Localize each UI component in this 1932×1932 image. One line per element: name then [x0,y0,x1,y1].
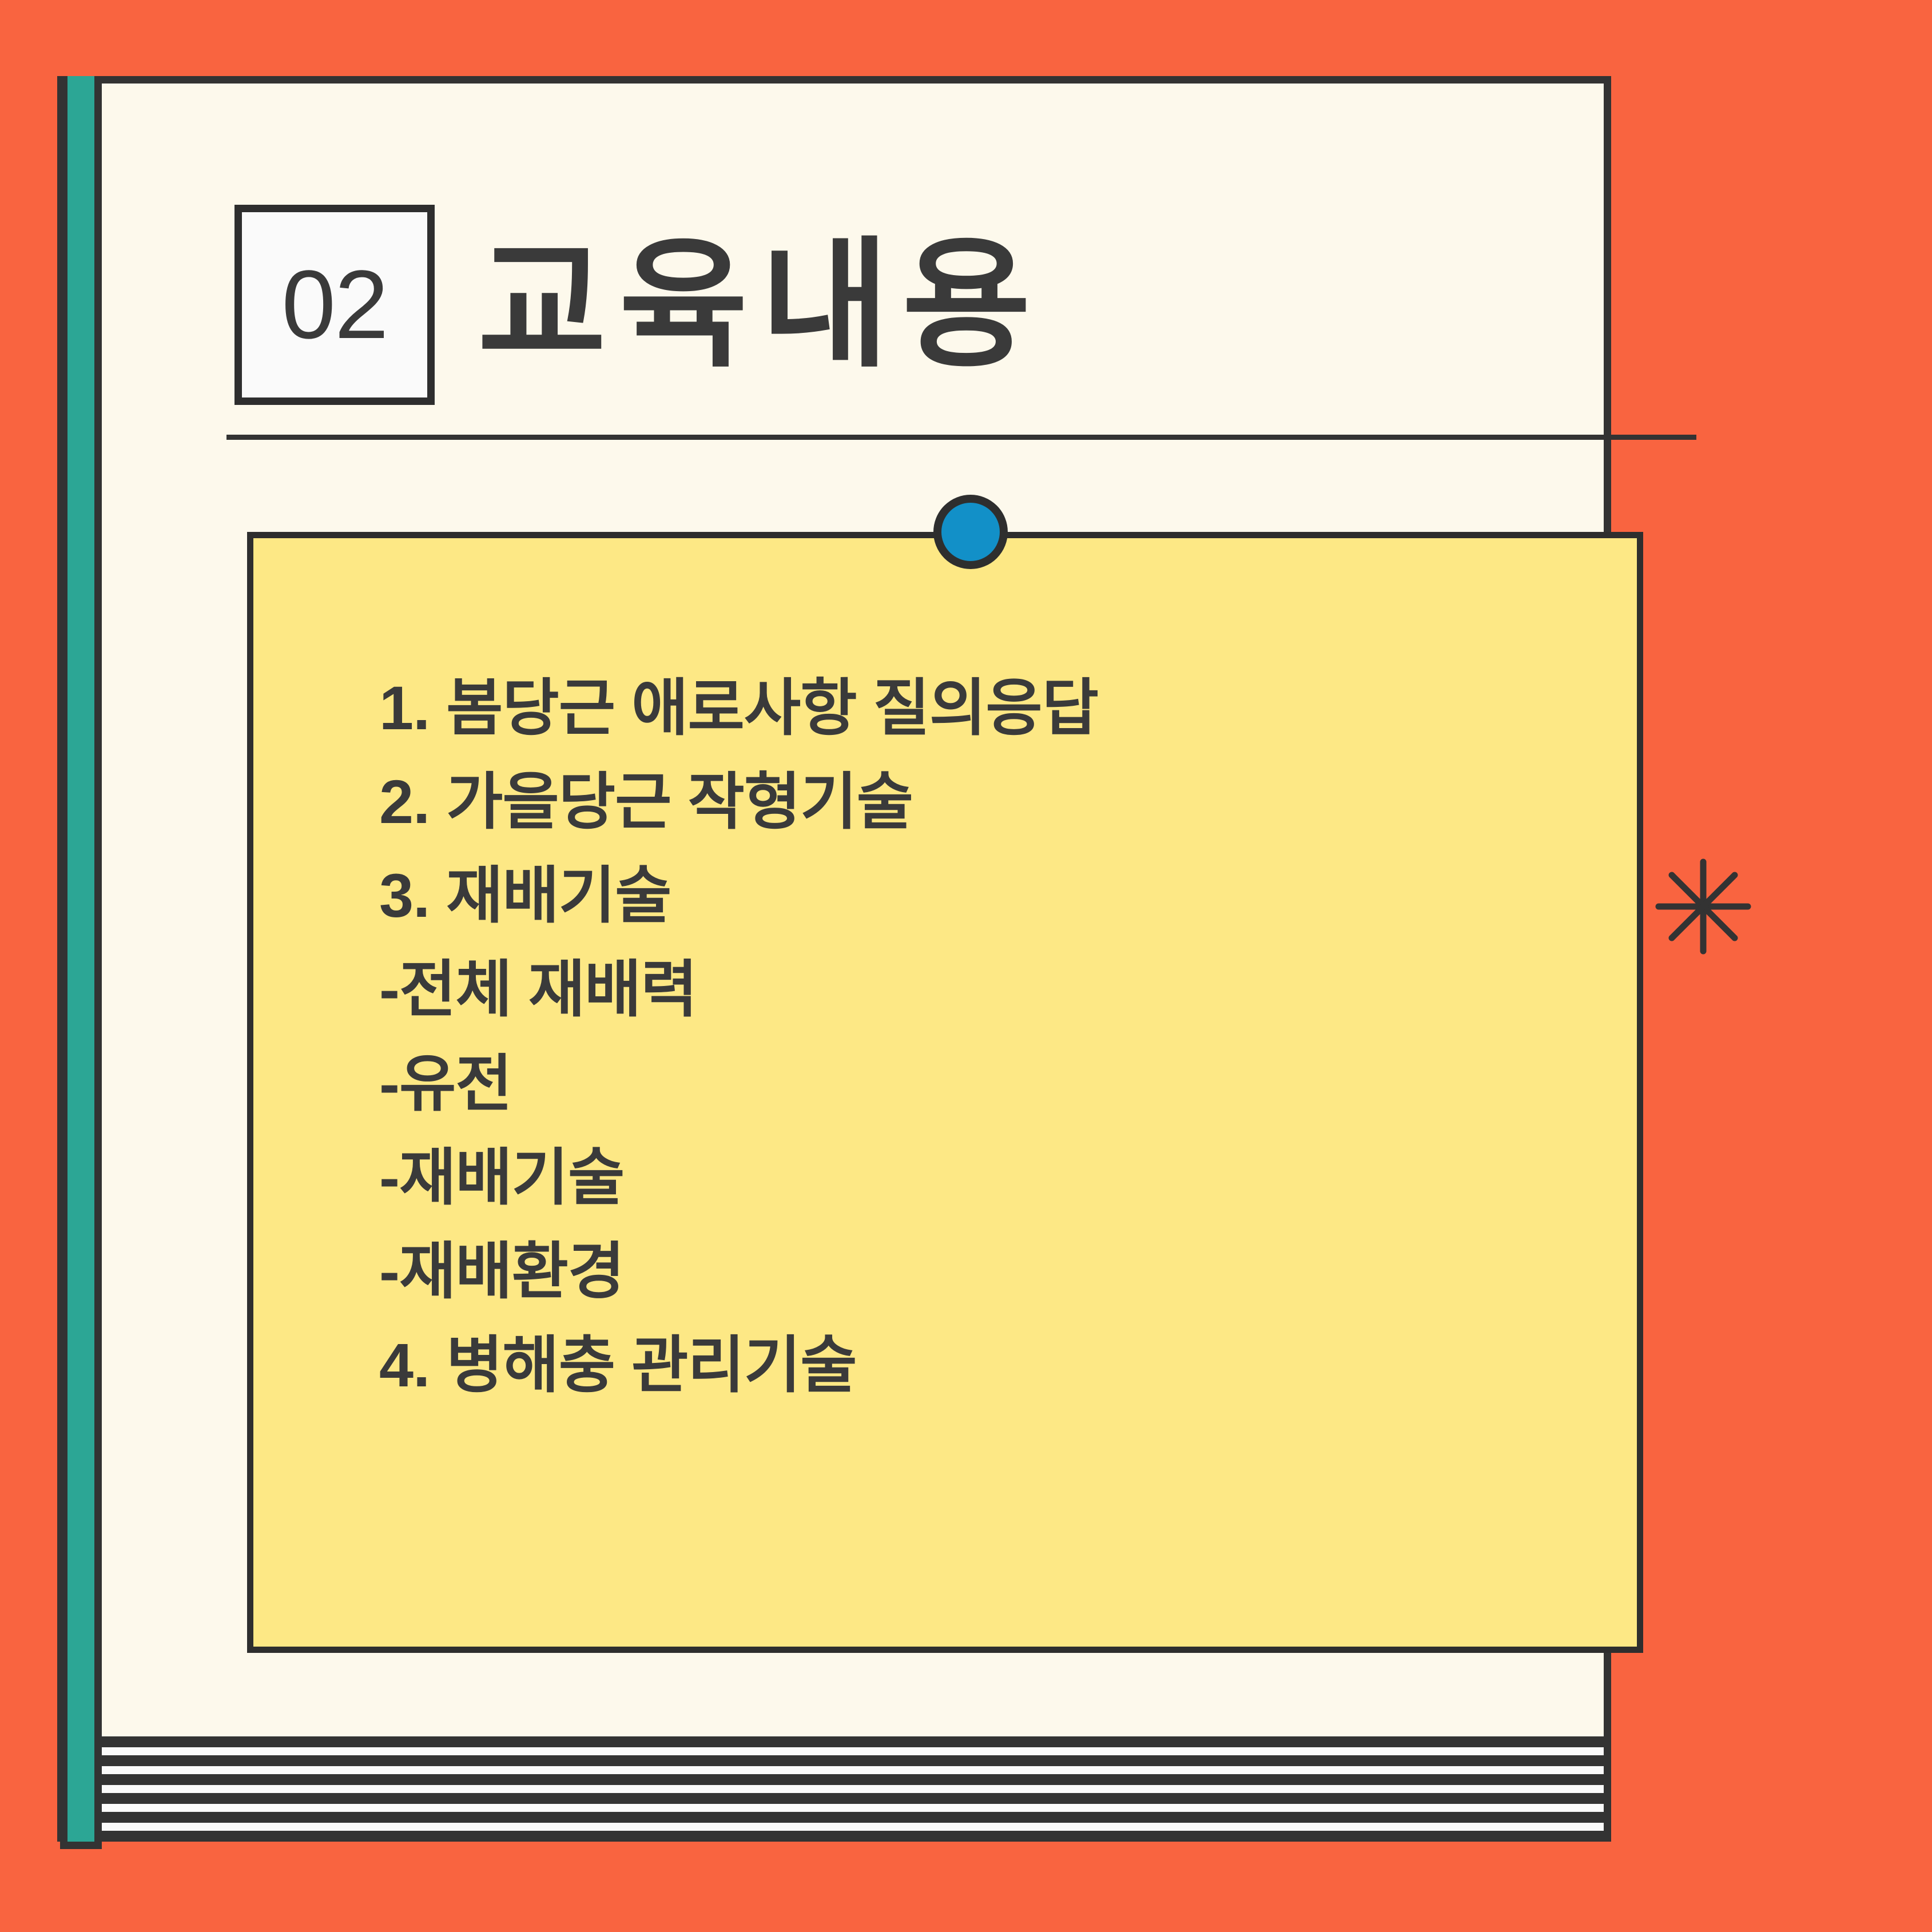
stripe-light [65,1766,1604,1774]
slide-canvas: 02 교육내용 1. 봄당근 애로사항 질의응답 2. 가을당근 작형기술 3.… [0,0,1932,1932]
list-item: 1. 봄당근 애로사항 질의응답 [379,661,1603,755]
list-item: -재배기술 [379,1131,1603,1225]
stripe-dark [65,1736,1604,1747]
teal-spine-bar [60,76,102,1849]
stripe-light [65,1785,1604,1793]
list-item: 4. 병해충 관리기술 [379,1318,1603,1412]
list-item: -재배환경 [379,1225,1603,1318]
list-item: 3. 재배기술 [379,849,1603,943]
stripe-dark [65,1831,1604,1842]
list-item: -전체 재배력 [379,943,1603,1036]
slide-header: 02 교육내용 [234,202,1619,408]
header-divider [226,435,1696,440]
stripe-light [65,1804,1604,1812]
blue-dot-marker-icon [933,495,1008,569]
content-list: 1. 봄당근 애로사항 질의응답 2. 가을당근 작형기술 3. 재배기술 -전… [379,661,1603,1412]
list-item: -유전 [379,1037,1603,1131]
stripe-light [65,1747,1604,1755]
sparkle-asterisk-icon [1652,855,1755,958]
section-number-label: 02 [281,256,387,353]
stripe-light [65,1823,1604,1831]
content-panel: 1. 봄당근 애로사항 질의응답 2. 가을당근 작형기술 3. 재배기술 -전… [247,532,1643,1653]
stripe-dark [65,1755,1604,1766]
list-item: 2. 가을당근 작형기술 [379,755,1603,849]
stripe-dark [65,1774,1604,1785]
stripe-dark [65,1793,1604,1804]
bottom-stripe-stack [65,1736,1604,1842]
section-number-box: 02 [234,205,435,405]
stripe-dark [65,1812,1604,1823]
page-title: 교육내용 [478,235,1044,375]
